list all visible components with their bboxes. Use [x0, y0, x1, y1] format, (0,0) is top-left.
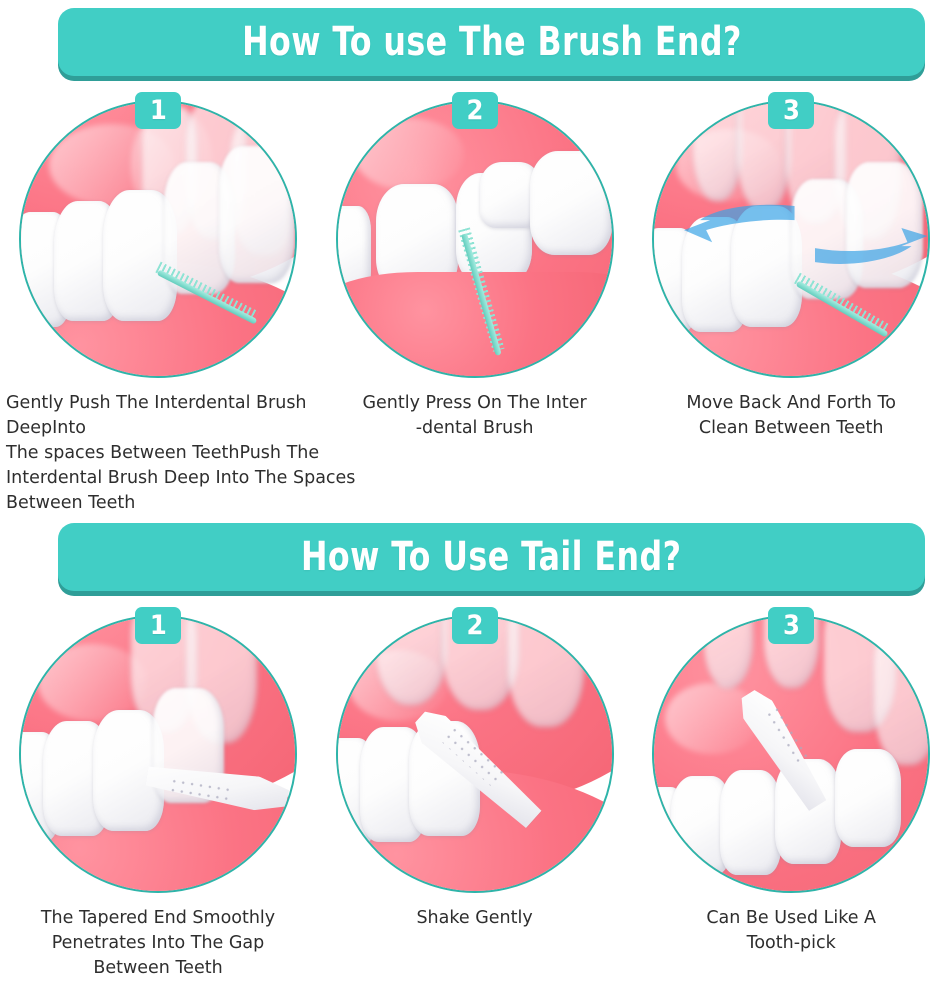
- teeth-icon: [219, 146, 296, 283]
- step-brush-3: 3 Move Back And Forth To Clean Between T…: [633, 100, 950, 378]
- dental-scene-brush-2: [338, 102, 612, 376]
- step-photo-tail-2: [336, 615, 614, 893]
- step-number-badge: 1: [135, 92, 181, 129]
- step-image-wrap-brush-1: 1: [19, 100, 297, 378]
- teeth-icon: [530, 151, 612, 255]
- caption-slot-brush-3: Move Back And Forth To Clean Between Tee…: [633, 378, 949, 441]
- step-caption-tail-2: Shake Gently: [317, 906, 633, 931]
- dental-scene-brush-1: [21, 102, 295, 376]
- step-caption-tail-1: The Tapered End Smoothly Penetrates Into…: [0, 906, 316, 981]
- step-tail-2: 2 Shake Gently: [317, 615, 634, 893]
- steps-row-brush-end: 1 Gently Push The Interdental Brush Deep…: [0, 100, 950, 378]
- step-photo-brush-3: [652, 100, 930, 378]
- step-photo-tail-3: [652, 615, 930, 893]
- step-number-badge: 3: [768, 607, 814, 644]
- step-number-badge: 3: [768, 92, 814, 129]
- instruction-infographic: How To use The Brush End?: [0, 0, 950, 975]
- step-number-badge: 1: [135, 607, 181, 644]
- teeth-icon: [835, 749, 901, 848]
- step-number-badge: 2: [452, 92, 498, 129]
- step-image-wrap-tail-2: 2: [336, 615, 614, 893]
- caption-slot-tail-3: Can Be Used Like A Tooth-pick: [633, 893, 949, 956]
- step-tail-3: 3 Can Be Used Like A Tooth-pick: [633, 615, 950, 893]
- step-photo-brush-1: [19, 100, 297, 378]
- step-caption-brush-3: Move Back And Forth To Clean Between Tee…: [633, 391, 949, 441]
- step-caption-brush-2: Gently Press On The Inter -dental Brush: [317, 391, 633, 441]
- motion-arrow-left-icon: [676, 195, 797, 255]
- step-number: 3: [783, 612, 800, 639]
- step-photo-tail-1: [19, 615, 297, 893]
- step-image-wrap-brush-2: 2: [336, 100, 614, 378]
- steps-row-tail-end: 1 The Tapered End Smoothly Penetrates In…: [0, 615, 950, 893]
- motion-arrow-right-icon: [813, 223, 930, 283]
- gum-highlight: [354, 118, 464, 189]
- teeth-icon: [508, 615, 585, 727]
- caption-slot-brush-2: Gently Press On The Inter -dental Brush: [317, 378, 633, 441]
- step-brush-1: 1 Gently Push The Interdental Brush Deep…: [0, 100, 317, 378]
- step-image-wrap-tail-1: 1: [19, 615, 297, 893]
- step-tail-1: 1 The Tapered End Smoothly Penetrates In…: [0, 615, 317, 893]
- step-image-wrap-brush-3: 3: [652, 100, 930, 378]
- caption-slot-tail-2: Shake Gently: [317, 893, 633, 931]
- teeth-icon: [874, 628, 931, 765]
- step-number: 1: [150, 612, 167, 639]
- step-number: 2: [466, 97, 483, 124]
- dental-scene-brush-3: [654, 102, 928, 376]
- dental-scene-tail-1: [21, 617, 295, 891]
- dental-scene-tail-2: [338, 617, 612, 891]
- teeth-icon: [720, 770, 780, 874]
- step-number: 3: [783, 97, 800, 124]
- step-photo-brush-2: [336, 100, 614, 378]
- step-number: 1: [150, 97, 167, 124]
- teeth-icon: [693, 100, 742, 201]
- step-brush-2: 2 Gently Press On The Inter -dental Brus…: [317, 100, 634, 378]
- banner-title-tail-end: How To Use Tail End?: [301, 534, 681, 580]
- section-banner-tail-end: How To Use Tail End?: [58, 523, 925, 591]
- step-number: 2: [466, 612, 483, 639]
- step-image-wrap-tail-3: 3: [652, 615, 930, 893]
- dental-scene-tail-3: [654, 617, 928, 891]
- section-banner-brush-end: How To use The Brush End?: [58, 8, 925, 76]
- caption-slot-tail-1: The Tapered End Smoothly Penetrates Into…: [0, 893, 316, 981]
- step-caption-tail-3: Can Be Used Like A Tooth-pick: [633, 906, 949, 956]
- banner-title-brush-end: How To use The Brush End?: [242, 19, 742, 65]
- step-number-badge: 2: [452, 607, 498, 644]
